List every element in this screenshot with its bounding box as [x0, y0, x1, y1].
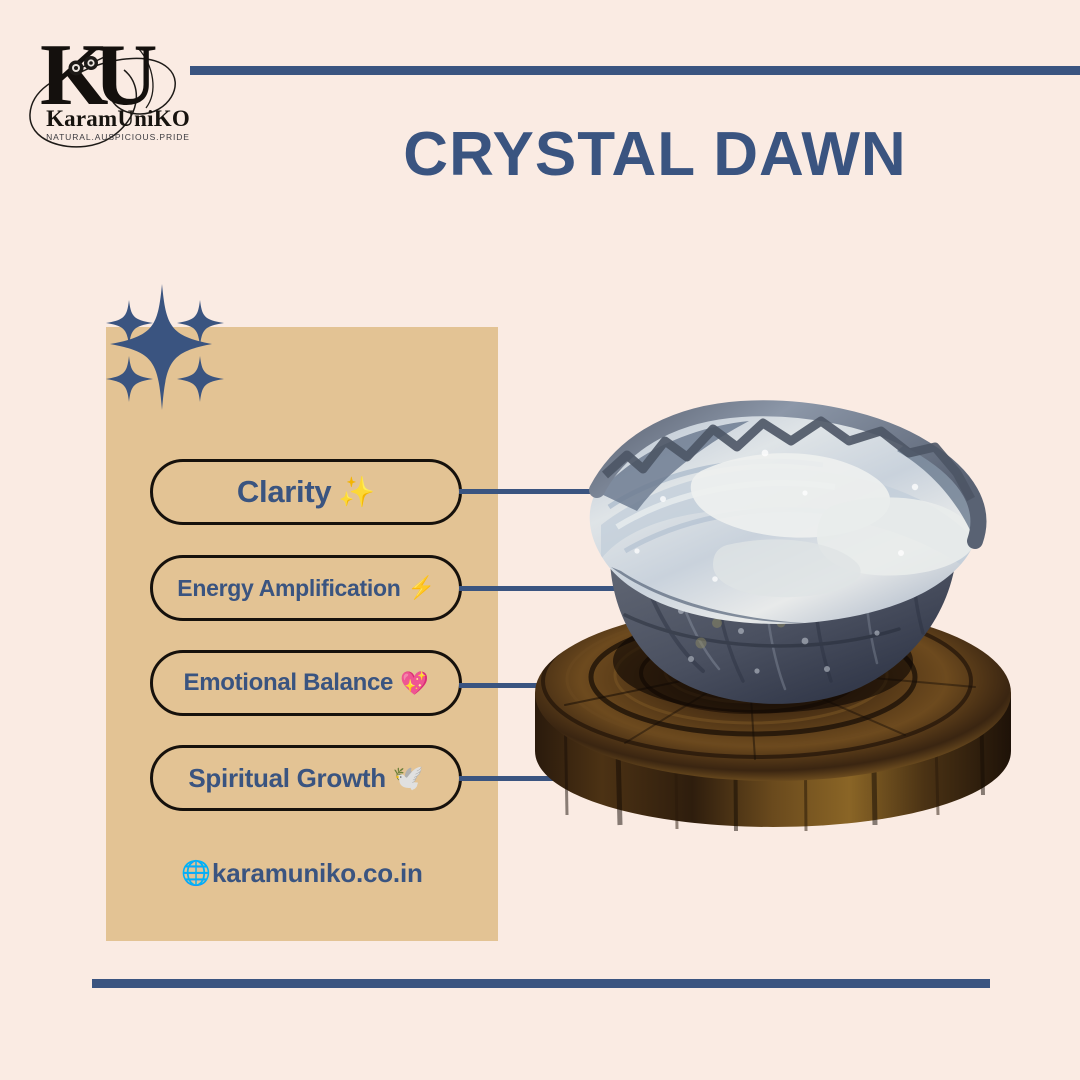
benefit-pill-emotional-balance[interactable]: Emotional Balance 💖 — [150, 650, 462, 716]
dove-emoji: 🕊️ — [393, 764, 424, 793]
benefits-panel — [106, 327, 498, 941]
benefit-label: Clarity — [237, 474, 331, 510]
bottom-divider-rule — [92, 979, 990, 988]
brand-name: KaramUniKO — [18, 106, 218, 132]
globe-icon: 🌐 — [181, 859, 211, 888]
sparkling-heart-emoji: 💖 — [400, 670, 428, 697]
benefit-pill-spiritual-growth[interactable]: Spiritual Growth 🕊️ — [150, 745, 462, 811]
poster-canvas: K U KaramUniKO NATURAL.AUSPICIOUS.PRIDE … — [0, 0, 1080, 1080]
benefit-pill-energy-amplification[interactable]: Energy Amplification ⚡ — [150, 555, 462, 621]
website-url-text: karamuniko.co.in — [212, 858, 423, 889]
brand-logo: K U KaramUniKO NATURAL.AUSPICIOUS.PRIDE — [18, 22, 218, 162]
benefit-pill-clarity[interactable]: Clarity ✨ — [150, 459, 462, 525]
brand-tagline: NATURAL.AUSPICIOUS.PRIDE — [18, 132, 218, 142]
crystal-on-wood-base-illustration — [505, 375, 1035, 875]
product-photo — [505, 375, 1035, 875]
benefit-label: Spiritual Growth — [188, 763, 385, 794]
sparkle-cluster-icon — [96, 278, 264, 418]
website-url[interactable]: 🌐 karamuniko.co.in — [106, 858, 498, 889]
sparkles-emoji: ✨ — [338, 475, 375, 510]
benefit-label: Emotional Balance — [183, 669, 393, 697]
benefit-label: Energy Amplification — [177, 575, 400, 602]
high-voltage-emoji: ⚡ — [407, 575, 434, 601]
top-divider-rule — [190, 66, 1080, 75]
page-title: CRYSTAL DAWN — [330, 124, 980, 186]
